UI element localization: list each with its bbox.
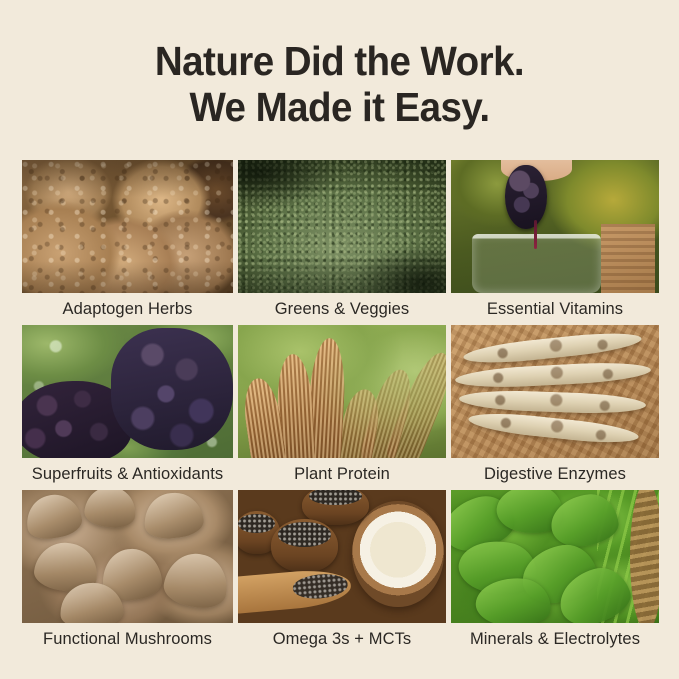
grid-cell-digestive-enzymes: Digestive Enzymes <box>451 325 659 490</box>
ingredient-benefits-poster: Nature Did the Work. We Made it Easy. Ad… <box>0 0 679 679</box>
photo-shading-layer <box>238 160 446 293</box>
superfruits-antioxidants-photo <box>22 325 233 458</box>
headline-line-2: We Made it Easy. <box>20 84 658 130</box>
acai-cluster-right <box>111 328 233 450</box>
tile-caption: Omega 3s + MCTs <box>238 623 446 655</box>
tile-caption: Greens & Veggies <box>238 293 446 325</box>
minerals-electrolytes-photo <box>451 490 659 623</box>
plant-protein-photo <box>238 325 446 458</box>
tile-caption: Plant Protein <box>238 458 446 490</box>
juice-drip-shape <box>534 220 537 249</box>
tile-caption: Adaptogen Herbs <box>22 293 233 325</box>
headline-line-1: Nature Did the Work. <box>20 38 658 84</box>
grid-cell-minerals-electrolytes: Minerals & Electrolytes <box>451 490 659 655</box>
greens-veggies-photo <box>238 160 446 293</box>
tile-caption: Essential Vitamins <box>451 293 659 325</box>
grid-cell-essential-vitamins: Essential Vitamins <box>451 160 659 325</box>
tile-caption: Functional Mushrooms <box>22 623 233 655</box>
page-title: Nature Did the Work. We Made it Easy. <box>0 38 679 130</box>
wooden-crate-shape <box>601 224 655 293</box>
photo-bokeh-layer <box>238 325 446 458</box>
tile-caption: Superfruits & Antioxidants <box>22 458 233 490</box>
grid-cell-plant-protein: Plant Protein <box>238 325 446 490</box>
basket-rim <box>630 490 659 623</box>
grid-cell-functional-mushrooms: Functional Mushrooms <box>22 490 233 655</box>
halved-coconut <box>352 501 444 607</box>
blackberry-shape <box>505 165 547 229</box>
digestive-enzymes-photo <box>451 325 659 458</box>
essential-vitamins-photo <box>451 160 659 293</box>
grid-cell-greens-veggies: Greens & Veggies <box>238 160 446 325</box>
grid-cell-superfruits-antioxidants: Superfruits & Antioxidants <box>22 325 233 490</box>
omega-3s-mcts-photo <box>238 490 446 623</box>
seed-bowl <box>271 519 338 572</box>
grid-cell-omega-3s-mcts: Omega 3s + MCTs <box>238 490 446 655</box>
grid-cell-adaptogen-herbs: Adaptogen Herbs <box>22 160 233 325</box>
tile-caption: Digestive Enzymes <box>451 458 659 490</box>
photo-shading-layer <box>22 160 233 293</box>
ingredient-grid: Adaptogen Herbs Greens & Veggies Essenti… <box>22 160 658 655</box>
tile-caption: Minerals & Electrolytes <box>451 623 659 655</box>
adaptogen-herbs-photo <box>22 160 233 293</box>
functional-mushrooms-photo <box>22 490 233 623</box>
